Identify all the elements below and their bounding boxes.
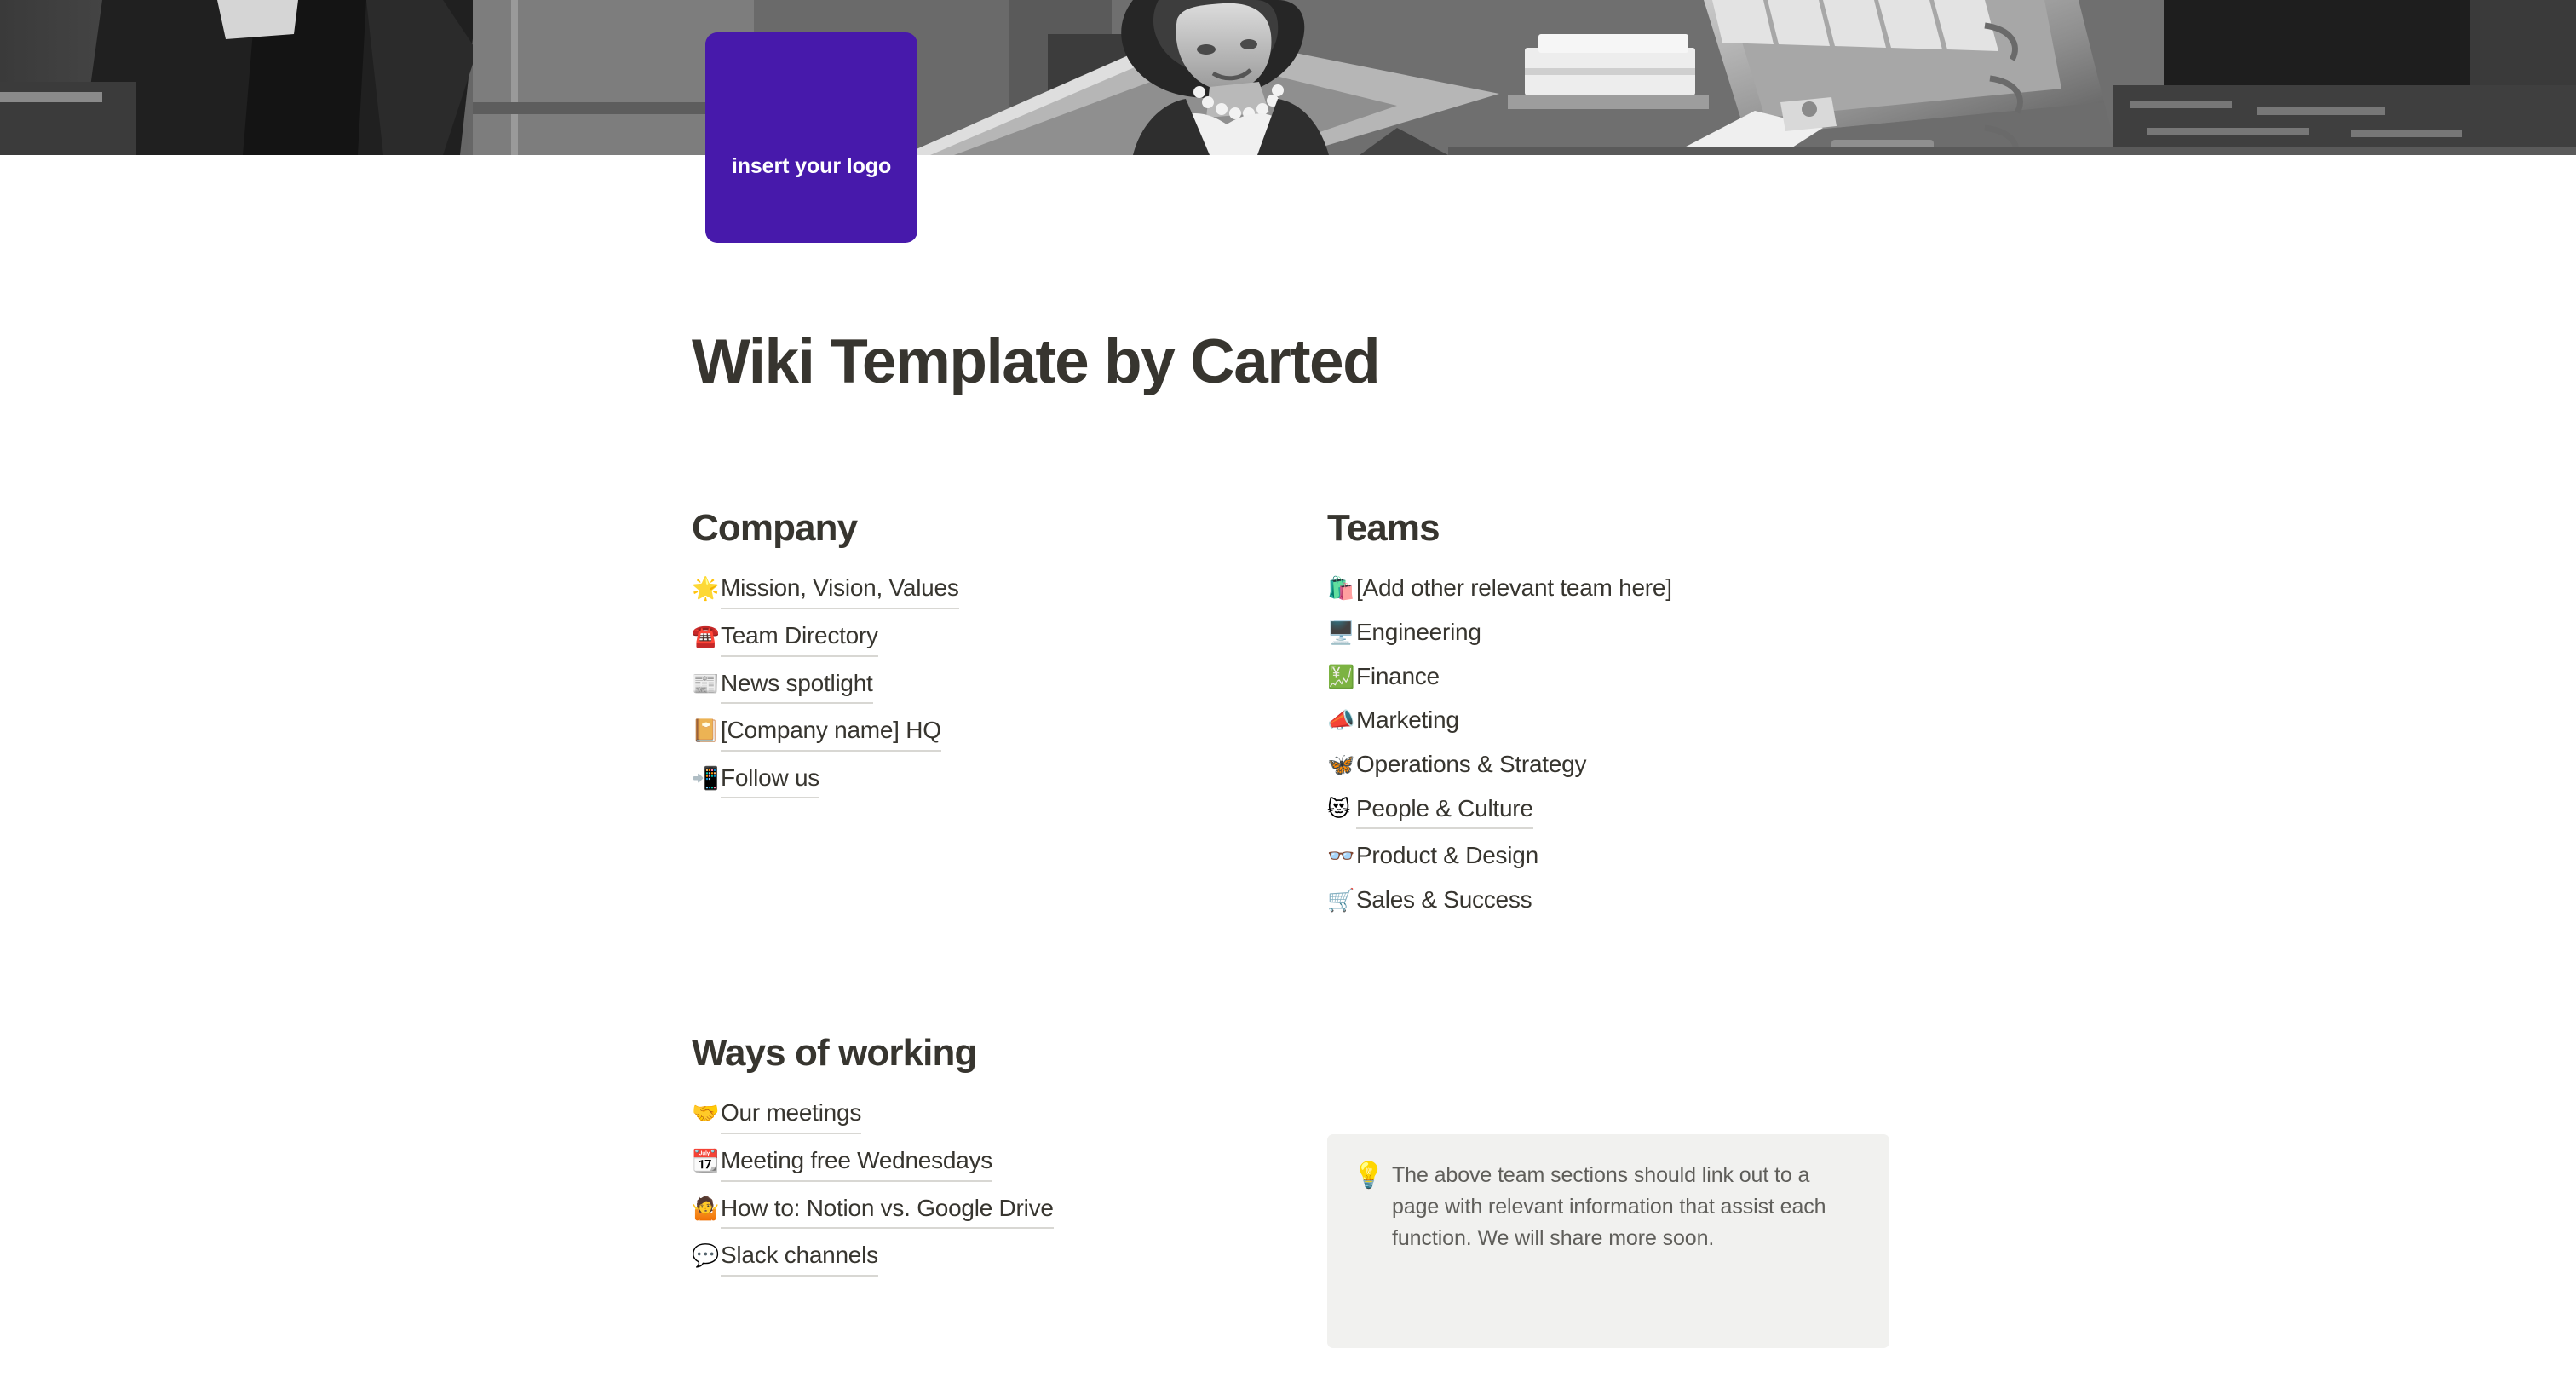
glowing-star-icon: 🌟	[692, 573, 721, 606]
list-item[interactable]: 🛍️ [Add other relevant team here]	[1327, 568, 1941, 609]
wiki-page: insert your logo Wiki Template by Carted…	[0, 0, 2576, 1389]
shopping-bags-icon: 🛍️	[1327, 573, 1356, 606]
person-shrugging-icon: 🤷	[692, 1194, 721, 1226]
company-link-list: 🌟 Mission, Vision, Values ☎️ Team Direct…	[692, 568, 1288, 802]
ways-link-meeting-free-wednesdays[interactable]: Meeting free Wednesdays	[721, 1144, 992, 1182]
list-item[interactable]: 📣 Marketing	[1327, 700, 1941, 741]
speech-balloon-icon: 💬	[692, 1241, 721, 1273]
company-column: Company 🌟 Mission, Vision, Values ☎️ Tea…	[692, 508, 1288, 804]
teams-item-engineering[interactable]: Engineering	[1356, 615, 1481, 650]
company-link-team-directory[interactable]: Team Directory	[721, 619, 878, 657]
list-item[interactable]: 🤷 How to: Notion vs. Google Drive	[692, 1188, 1339, 1233]
callout-text: The above team sections should link out …	[1392, 1160, 1860, 1254]
megaphone-icon: 📣	[1327, 706, 1356, 738]
notebook-icon: 📔	[692, 716, 721, 748]
butterfly-icon: 🦋	[1327, 750, 1356, 782]
company-link-follow-us[interactable]: Follow us	[721, 761, 819, 799]
light-bulb-icon: 💡	[1353, 1160, 1392, 1192]
cover-photo	[0, 0, 2576, 155]
list-item[interactable]: 💬 Slack channels	[692, 1235, 1339, 1280]
logo-label: insert your logo	[705, 154, 917, 179]
teams-item-add-other-relevant-team[interactable]: [Add other relevant team here]	[1356, 571, 1672, 606]
page-title[interactable]: Wiki Template by Carted	[692, 329, 1379, 396]
shopping-cart-icon: 🛒	[1327, 885, 1356, 918]
handshake-icon: 🤝	[692, 1098, 721, 1131]
company-link-company-name-hq[interactable]: [Company name] HQ	[721, 713, 941, 752]
list-item[interactable]: 📲 Follow us	[692, 758, 1288, 803]
teams-item-operations-strategy[interactable]: Operations & Strategy	[1356, 747, 1586, 782]
ways-of-working-link-list: 🤝 Our meetings 📆 Meeting free Wednesdays…	[692, 1092, 1339, 1279]
heart-eyes-cat-icon: 😻	[1327, 794, 1356, 827]
ways-of-working-heading[interactable]: Ways of working	[692, 1033, 1339, 1074]
list-item[interactable]: 📔 [Company name] HQ	[692, 710, 1288, 755]
company-link-mission-vision-values[interactable]: Mission, Vision, Values	[721, 571, 959, 609]
ways-of-working-column: Ways of working 🤝 Our meetings 📆 Meeting…	[692, 1033, 1339, 1282]
ways-link-our-meetings[interactable]: Our meetings	[721, 1096, 861, 1134]
list-item[interactable]: 🤝 Our meetings	[692, 1092, 1339, 1138]
list-item[interactable]: 🖥️ Engineering	[1327, 612, 1941, 654]
tear-off-calendar-icon: 📆	[692, 1146, 721, 1179]
logo-placeholder[interactable]: insert your logo	[705, 32, 917, 243]
teams-item-marketing[interactable]: Marketing	[1356, 703, 1459, 738]
teams-link-list: 🛍️ [Add other relevant team here] 🖥️ Eng…	[1327, 568, 1941, 920]
cover-banner[interactable]	[0, 0, 2576, 155]
list-item[interactable]: 💹 Finance	[1327, 656, 1941, 698]
list-item[interactable]: ☎️ Team Directory	[692, 615, 1288, 660]
ways-link-slack-channels[interactable]: Slack channels	[721, 1238, 878, 1277]
mobile-phone-arrow-icon: 📲	[692, 764, 721, 796]
teams-item-product-design[interactable]: Product & Design	[1356, 839, 1538, 873]
teams-column: Teams 🛍️ [Add other relevant team here] …	[1327, 508, 1941, 924]
list-item[interactable]: 📰 News spotlight	[692, 663, 1288, 708]
list-item[interactable]: 👓 Product & Design	[1327, 835, 1941, 877]
company-heading[interactable]: Company	[692, 508, 1288, 549]
desktop-computer-icon: 🖥️	[1327, 618, 1356, 650]
list-item[interactable]: 😻 People & Culture	[1327, 788, 1941, 833]
teams-item-sales-success[interactable]: Sales & Success	[1356, 883, 1532, 918]
list-item[interactable]: 🛒 Sales & Success	[1327, 879, 1941, 921]
ways-link-how-to-notion-vs-google-drive[interactable]: How to: Notion vs. Google Drive	[721, 1191, 1054, 1230]
list-item[interactable]: 🌟 Mission, Vision, Values	[692, 568, 1288, 613]
newspaper-icon: 📰	[692, 669, 721, 701]
callout-box[interactable]: 💡 The above team sections should link ou…	[1327, 1134, 1889, 1348]
company-link-news-spotlight[interactable]: News spotlight	[721, 666, 873, 705]
teams-item-people-culture[interactable]: People & Culture	[1356, 792, 1533, 830]
teams-heading[interactable]: Teams	[1327, 508, 1941, 549]
telephone-icon: ☎️	[692, 621, 721, 654]
eyeglasses-icon: 👓	[1327, 841, 1356, 873]
chart-increasing-yen-icon: 💹	[1327, 662, 1356, 694]
teams-item-finance[interactable]: Finance	[1356, 660, 1440, 694]
list-item[interactable]: 📆 Meeting free Wednesdays	[692, 1140, 1339, 1185]
list-item[interactable]: 🦋 Operations & Strategy	[1327, 744, 1941, 786]
